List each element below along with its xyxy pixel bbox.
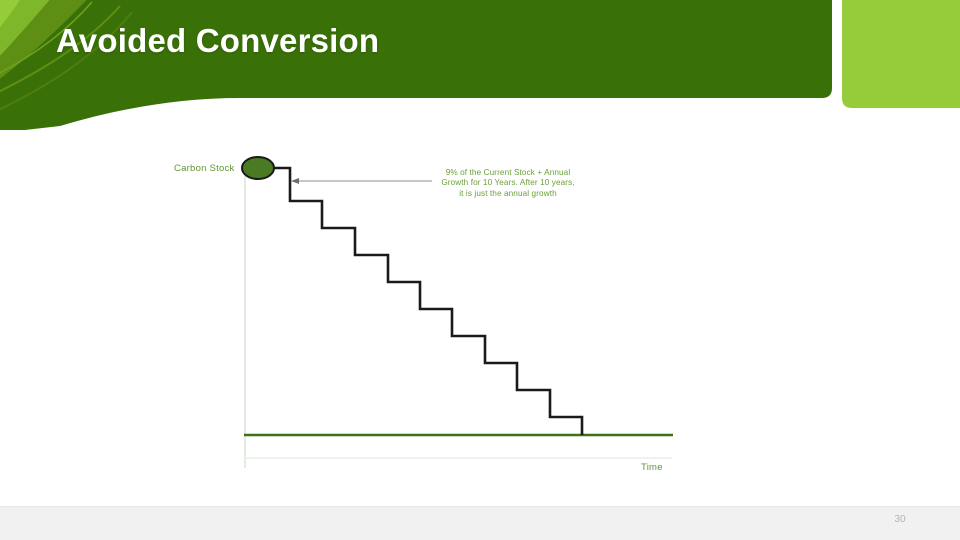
annotation-text-block: 9% of the Current Stock + Annual Growth … [432, 168, 584, 199]
annotation-line-2: Growth for 10 Years. After 10 years, [432, 178, 584, 188]
annotation-arrowhead-icon [291, 178, 299, 184]
x-axis-label: Time [641, 462, 663, 473]
carbon-stock-step-diagram: Carbon Stock Time 9% of the Current Stoc… [0, 0, 960, 540]
slide-number: 30 [885, 514, 915, 525]
step-function-path [258, 168, 582, 435]
diagram-svg [0, 0, 960, 540]
y-axis-label: Carbon Stock [174, 163, 235, 174]
annotation-line-1: 9% of the Current Stock + Annual [432, 168, 584, 178]
slide-canvas: Avoided Conversion Carbon Stock Time 9% … [0, 0, 960, 540]
carbon-stock-marker-icon [242, 157, 274, 179]
slide-footer [0, 506, 960, 540]
annotation-line-3: it is just the annual growth [432, 189, 584, 199]
